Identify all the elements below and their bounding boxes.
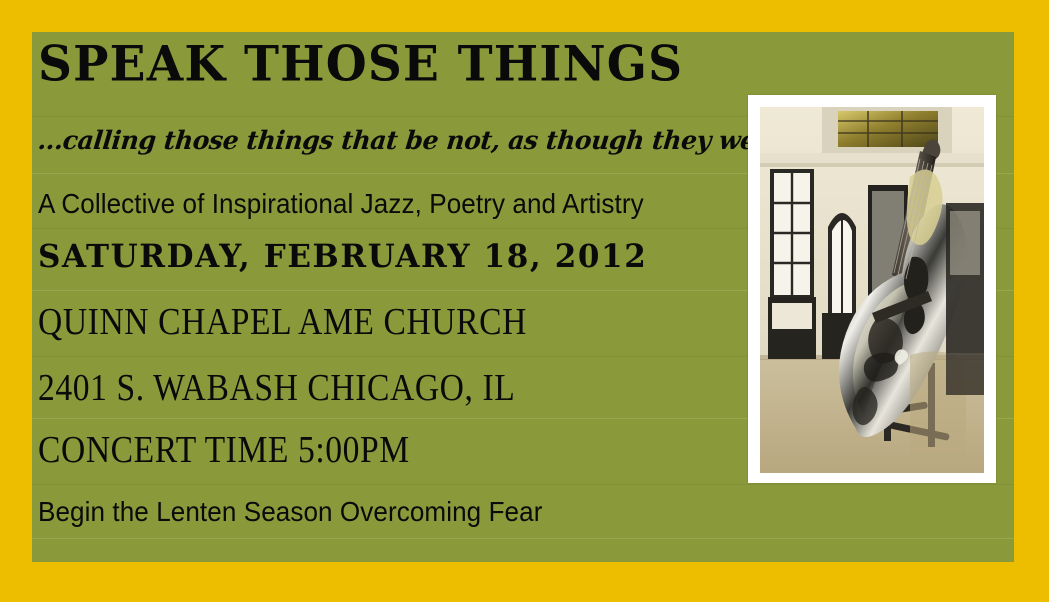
flyer-concert-time: CONCERT TIME 5:00PM (38, 430, 410, 469)
double-bass-photo (760, 107, 984, 473)
flyer-scripture-tagline: ...calling those things that be not, as … (37, 128, 811, 154)
flyer-text-column: SPEAK THOSE THINGS ...calling those thin… (38, 32, 744, 562)
flyer-title: SPEAK THOSE THINGS (38, 40, 683, 89)
event-flyer: SPEAK THOSE THINGS ...calling those thin… (0, 0, 1049, 602)
flyer-venue-address: 2401 S. WABASH CHICAGO, IL (38, 368, 515, 407)
tall-window (768, 169, 816, 359)
flyer-collective-description: A Collective of Inspirational Jazz, Poet… (38, 190, 644, 218)
content-panel: SPEAK THOSE THINGS ...calling those thin… (32, 32, 1014, 562)
double-bass-illustration (760, 107, 984, 473)
flyer-event-date: SATURDAY, FEBRUARY 18, 2012 (38, 242, 647, 274)
flyer-closing-line: Begin the Lenten Season Overcoming Fear (38, 498, 542, 526)
flyer-venue-name: QUINN CHAPEL AME CHURCH (38, 302, 527, 341)
photo-frame (748, 95, 996, 483)
